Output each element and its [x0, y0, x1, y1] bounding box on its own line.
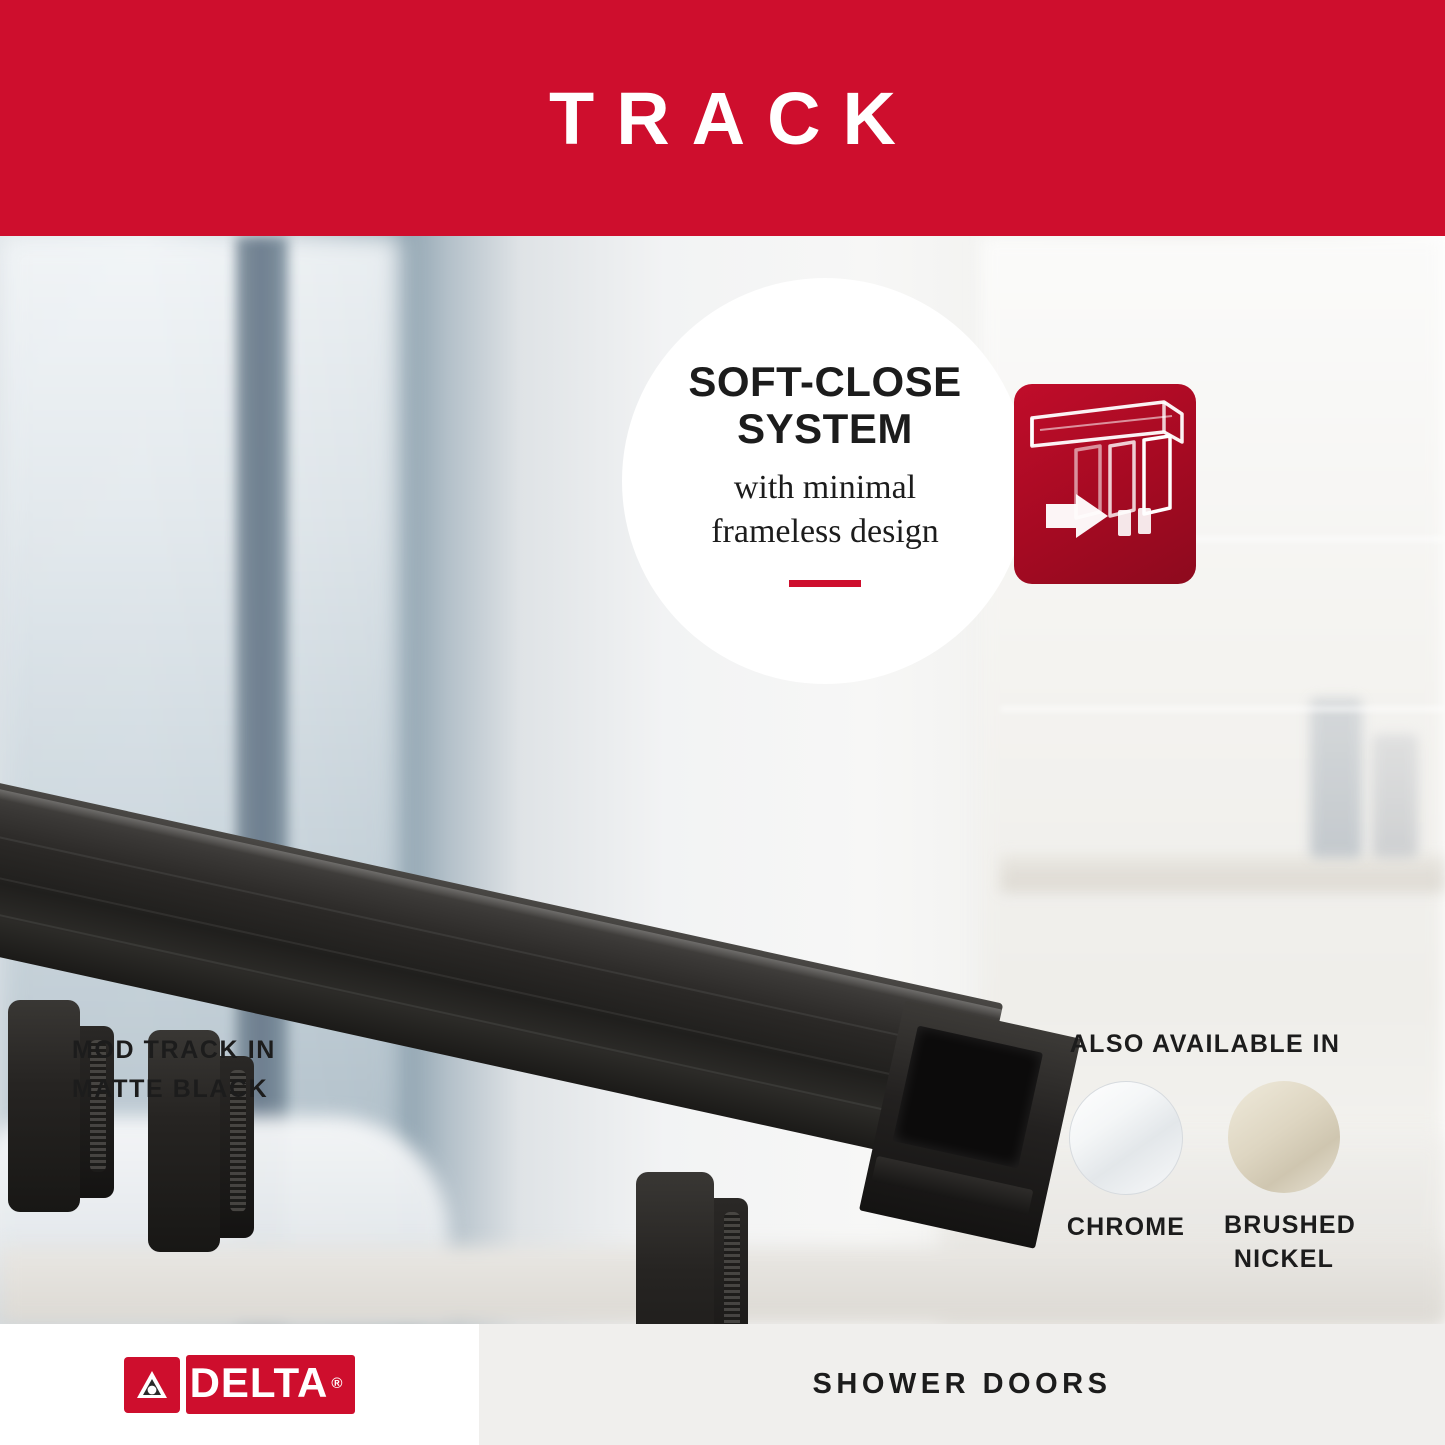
- delta-logo[interactable]: DELTA®: [124, 1355, 356, 1414]
- finishes-title: ALSO AVAILABLE IN: [1040, 1030, 1370, 1059]
- category-area: SHOWER DOORS: [479, 1324, 1445, 1445]
- soft-close-badge: SOFT-CLOSE SYSTEM with minimal frameless…: [622, 278, 1028, 684]
- header-banner: TRACK: [0, 0, 1445, 236]
- badge-subline-2: frameless design: [711, 510, 939, 554]
- delta-wordmark: DELTA®: [186, 1355, 356, 1414]
- badge-subline-1: with minimal: [734, 466, 916, 510]
- soft-close-motion-icon: [1014, 384, 1196, 584]
- brushed-nickel-label-line-1: BRUSHED: [1224, 1211, 1356, 1239]
- brand-area: DELTA®: [0, 1324, 479, 1445]
- chrome-swatch-icon: [1069, 1081, 1183, 1195]
- finish-option-chrome[interactable]: CHROME: [1066, 1081, 1186, 1277]
- available-finishes: ALSO AVAILABLE IN CHROME BRUSHED NICKEL: [1040, 1030, 1370, 1277]
- track-groove-1: [0, 825, 992, 1057]
- roller-wheel-strip-3: [724, 1212, 740, 1324]
- product-caption-line-2: MATTE BLACK: [72, 1070, 502, 1109]
- product-infographic: TRACK: [0, 0, 1445, 1445]
- track-highlight: [0, 780, 1002, 1020]
- delta-triangle-logo: [124, 1357, 180, 1413]
- delta-wordmark-text: DELTA: [190, 1359, 329, 1407]
- product-photo: SOFT-CLOSE SYSTEM with minimal frameless…: [0, 236, 1445, 1324]
- product-caption-line-1: MOD TRACK IN: [72, 1031, 502, 1070]
- footer-bar: DELTA® SHOWER DOORS: [0, 1324, 1445, 1445]
- roller-bracket-1: [8, 1000, 80, 1212]
- brushed-nickel-swatch-icon: [1228, 1081, 1340, 1193]
- soft-close-motion-glyph: [1014, 384, 1196, 584]
- roller-bracket-3: [636, 1172, 714, 1324]
- track-channel-cavity: [893, 1026, 1043, 1169]
- category-label: SHOWER DOORS: [813, 1368, 1112, 1401]
- badge-headline-2: SYSTEM: [737, 405, 913, 452]
- delta-triangle-glyph: [132, 1365, 172, 1405]
- registered-mark: ®: [331, 1375, 343, 1392]
- badge-headline-1: SOFT-CLOSE: [688, 358, 961, 405]
- product-caption: MOD TRACK IN MATTE BLACK: [72, 1031, 502, 1109]
- chrome-label: CHROME: [1066, 1211, 1186, 1245]
- finish-option-brushed-nickel[interactable]: BRUSHED NICKEL: [1224, 1081, 1344, 1277]
- page-title: TRACK: [527, 76, 918, 161]
- badge-divider: [789, 580, 861, 587]
- brushed-nickel-label-line-2: NICKEL: [1234, 1245, 1334, 1273]
